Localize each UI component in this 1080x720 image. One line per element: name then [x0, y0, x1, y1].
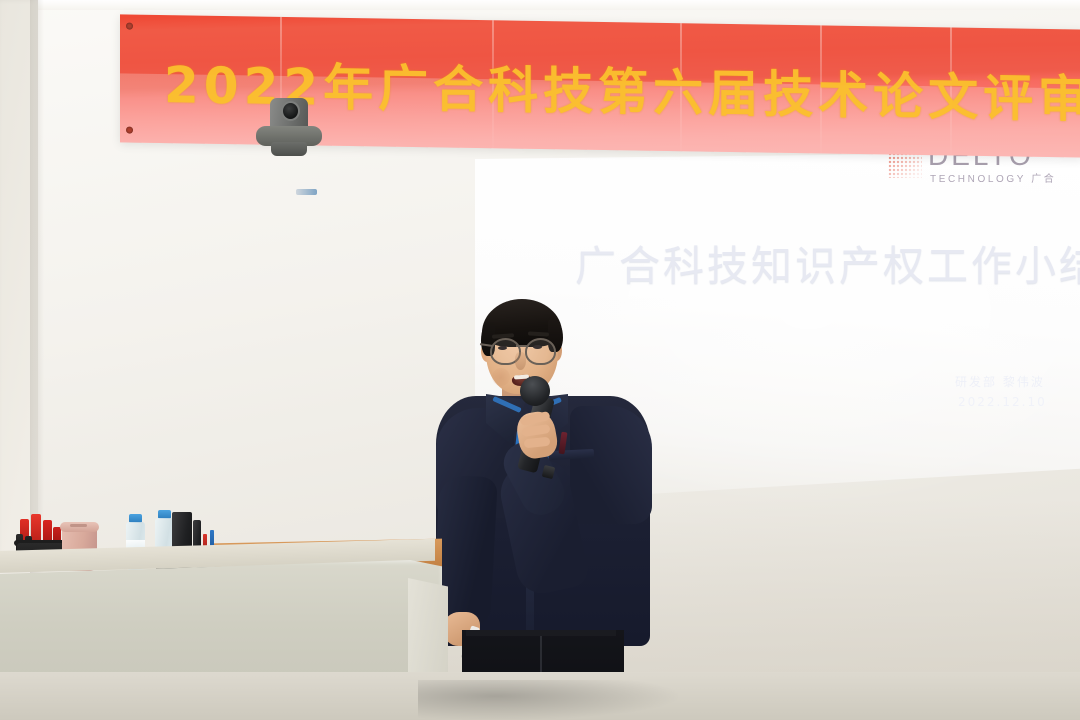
eyeglass-bridge [516, 345, 527, 347]
logo-tagline: TECHNOLOGY 广合 [930, 170, 1056, 185]
slide-author: 研发部 黎伟波 [955, 373, 1045, 390]
ptz-camera-icon [253, 98, 325, 162]
cheek-shading [492, 368, 510, 386]
cup-lid-slot [70, 524, 87, 527]
slide-date: 2022.12.10 [958, 395, 1047, 409]
eyeglass-lens-right [525, 338, 556, 365]
slide-title: 广合科技知识产权工作小结 [575, 232, 1080, 292]
wall-corner-shadow [30, 0, 44, 600]
shoulder-right [570, 406, 652, 524]
camera-led-icon [296, 189, 317, 195]
ceiling-edge [0, 0, 1080, 10]
presentation-scene: DELTO TECHNOLOGY 广合 广合科技知识产权工作小结 研发部 黎伟波… [0, 0, 1080, 720]
nose [515, 352, 526, 370]
presenter [430, 290, 660, 720]
floor-shadow [418, 680, 678, 720]
camera-lens-icon [283, 103, 298, 119]
